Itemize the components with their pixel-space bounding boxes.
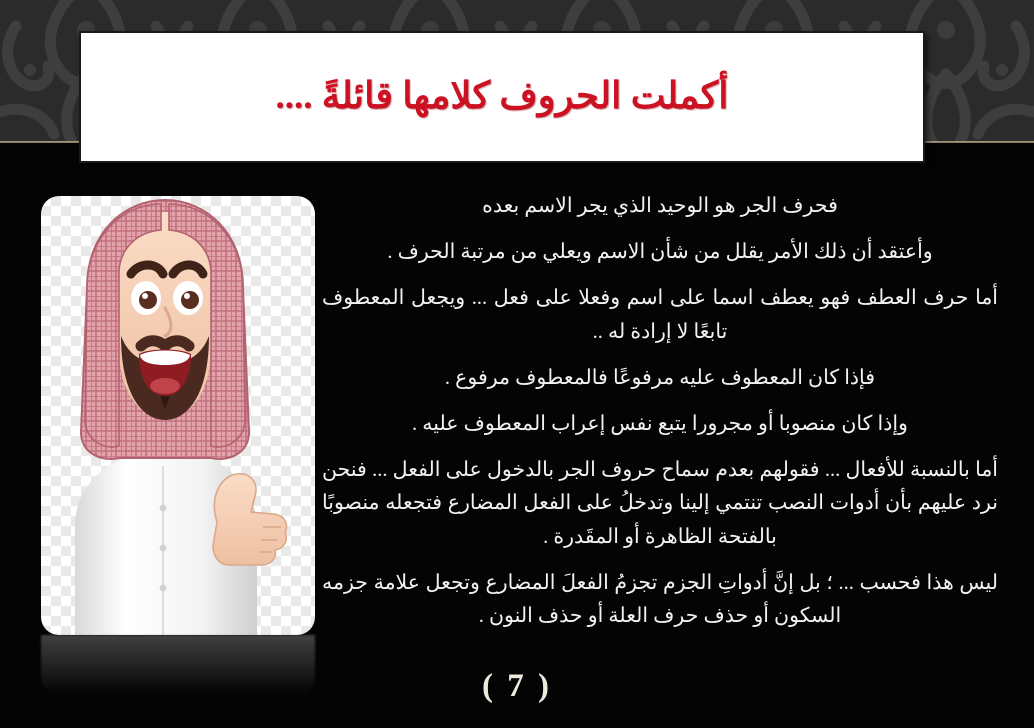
body-paragraph: أما حرف العطف فهو يعطف اسما على اسم وفعل… <box>322 282 998 348</box>
body-paragraph: وإذا كان منصوبا أو مجرورا يتبع نفس إعراب… <box>322 408 998 441</box>
body-paragraph: ليس هذا فحسب ... ؛ بل إنَّ أدواتِ الجزم … <box>322 567 998 633</box>
illustration-panel <box>41 196 315 635</box>
body-paragraph: أما بالنسبة للأفعال ... فقولهم بعدم سماح… <box>322 454 998 554</box>
title-box: أكملت الحروف كلامها قائلةً .... <box>79 31 925 163</box>
page-number: ( 7 ) <box>0 668 1034 705</box>
body-text-column: فحرف الجر هو الوحيد الذي يجر الاسم بعده … <box>322 190 998 646</box>
body-paragraph: وأعتقد أن ذلك الأمر يقلل من شأن الاسم وي… <box>322 236 998 269</box>
presentation-slide: أكملت الحروف كلامها قائلةً .... <box>0 0 1034 728</box>
body-paragraph: فإذا كان المعطوف عليه مرفوعًا فالمعطوف م… <box>322 362 998 395</box>
cartoon-arab-man-thumbs-up-icon <box>41 196 315 635</box>
body-paragraph: فحرف الجر هو الوحيد الذي يجر الاسم بعده <box>322 190 998 223</box>
page-title: أكملت الحروف كلامها قائلةً .... <box>275 74 728 120</box>
